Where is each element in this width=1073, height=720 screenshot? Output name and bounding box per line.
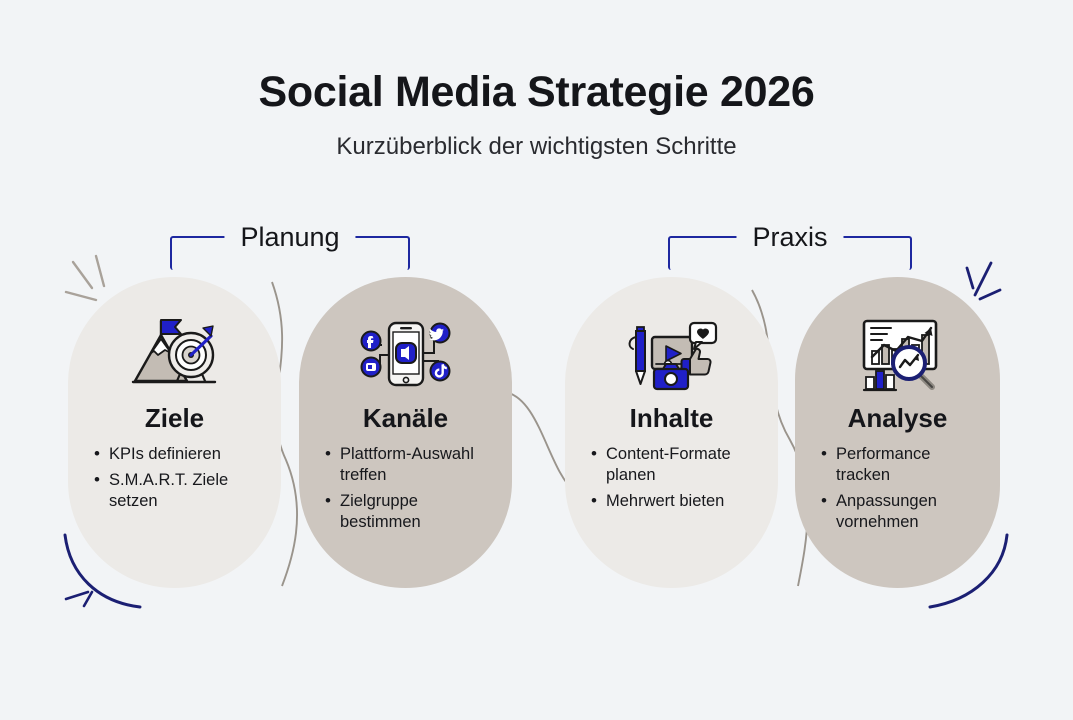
card-title-kanaele: Kanäle: [363, 403, 448, 434]
bullet-item: Performance tracken: [821, 444, 986, 486]
group-label-planung: Planung: [224, 222, 355, 253]
card-bullets-analyse: Performance tracken Anpassungen vornehme…: [795, 444, 1000, 538]
card-bullets-kanaele: Plattform-Auswahl treffen Zielgruppe bes…: [299, 444, 512, 538]
bullet-item: Content-Formate planen: [591, 444, 764, 486]
page-title: Social Media Strategie 2026: [0, 68, 1073, 117]
pen-video-camera-like-icon: [624, 315, 720, 395]
spark-lines-top-right: [967, 263, 1000, 299]
spark-lines-bottom-left: [66, 592, 92, 606]
bullet-item: Zielgruppe bestimmen: [325, 491, 498, 533]
card-bullets-ziele: KPIs definieren S.M.A.R.T. Ziele setzen: [68, 444, 281, 517]
bullet-item: Anpassungen vornehmen: [821, 491, 986, 533]
group-label-praxis: Praxis: [736, 222, 843, 253]
card-inhalte[interactable]: Inhalte Content-Formate planen Mehrwert …: [565, 277, 778, 588]
bullet-item: KPIs definieren: [94, 444, 267, 465]
card-bullets-inhalte: Content-Formate planen Mehrwert bieten: [565, 444, 778, 517]
bullet-item: S.M.A.R.T. Ziele setzen: [94, 470, 267, 512]
bullet-item: Mehrwert bieten: [591, 491, 764, 512]
card-analyse[interactable]: Analyse Performance tracken Anpassungen …: [795, 277, 1000, 588]
card-ziele[interactable]: Ziele KPIs definieren S.M.A.R.T. Ziele s…: [68, 277, 281, 588]
card-title-analyse: Analyse: [848, 403, 948, 434]
bullet-item: Plattform-Auswahl treffen: [325, 444, 498, 486]
group-bracket-praxis: Praxis: [668, 222, 912, 272]
card-title-ziele: Ziele: [145, 403, 204, 434]
smartphone-social-network-icon: [358, 315, 454, 395]
card-title-inhalte: Inhalte: [630, 403, 714, 434]
mountain-flag-target-icon: [127, 315, 223, 395]
card-kanaele[interactable]: Kanäle Plattform-Auswahl treffen Zielgru…: [299, 277, 512, 588]
chart-magnifier-icon: [850, 315, 946, 395]
spark-lines-top-left: [66, 256, 104, 300]
page-subtitle: Kurzüberblick der wichtigsten Schritte: [0, 133, 1073, 161]
infographic-canvas: Social Media Strategie 2026 Kurzüberblic…: [0, 0, 1073, 720]
group-bracket-planung: Planung: [170, 222, 410, 272]
